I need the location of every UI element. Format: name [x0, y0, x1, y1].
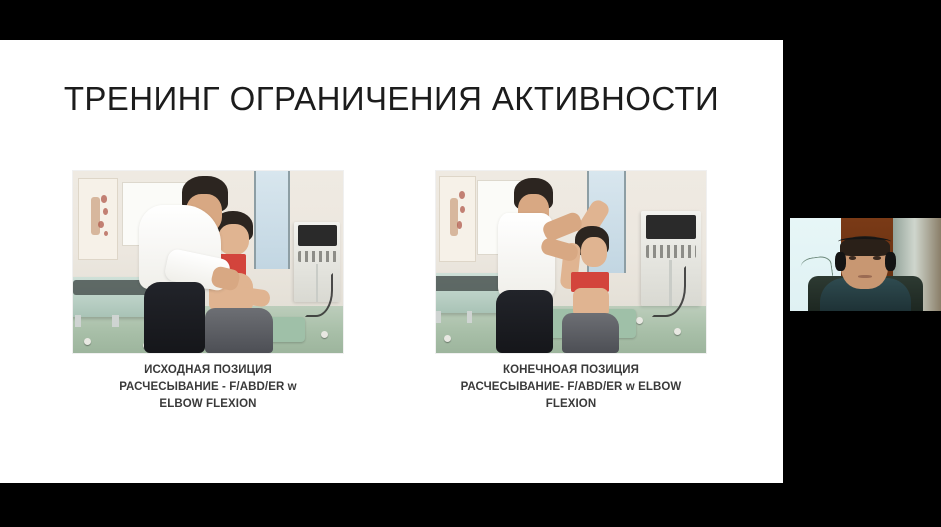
caption-starting-position: ИСХОДНАЯ ПОЗИЦИЯ РАСЧЕСЫВАНИЕ - F/ABD/ER… [73, 362, 343, 413]
clinic-room-scene [436, 171, 706, 353]
clinic-room-scene [73, 171, 343, 353]
caption-line: РАСЧЕСЫВАНИЕ - F/ABD/ER w [73, 379, 343, 396]
therapist-figure [132, 176, 245, 353]
caster-wheel [444, 335, 451, 342]
slide-panel-right: КОНЕЧНОАЯ ПОЗИЦИЯ РАСЧЕСЫВАНИЕ- F/ABD/ER… [436, 171, 706, 413]
slide-panel-left: ИСХОДНАЯ ПОЗИЦИЯ РАСЧЕСЫВАНИЕ - F/ABD/ER… [73, 171, 343, 413]
participant-video-tile[interactable] [783, 0, 941, 527]
caption-line: РАСЧЕСЫВАНИЕ- F/ABD/ER w ELBOW [436, 379, 706, 396]
headphones-icon [838, 237, 891, 246]
participant-video-feed[interactable] [790, 218, 941, 311]
photo-starting-position [73, 171, 343, 353]
caption-line: ELBOW FLEXION [73, 396, 343, 413]
meeting-screen: ТРЕНИНГ ОГРАНИЧЕНИЯ АКТИВНОСТИ [0, 0, 941, 527]
anatomy-poster-icon [78, 178, 118, 260]
photo-end-position [436, 171, 706, 353]
caption-line: КОНЕЧНОАЯ ПОЗИЦИЯ [436, 362, 706, 379]
anatomy-poster-icon [439, 176, 476, 262]
participant-eye-left [849, 256, 857, 260]
participant-mouth [858, 275, 872, 278]
caption-end-position: КОНЕЧНОАЯ ПОЗИЦИЯ РАСЧЕСЫВАНИЕ- F/ABD/ER… [436, 362, 706, 413]
therapist-figure [485, 178, 582, 353]
page-title: ТРЕНИНГ ОГРАНИЧЕНИЯ АКТИВНОСТИ [0, 80, 783, 118]
shared-slide: ТРЕНИНГ ОГРАНИЧЕНИЯ АКТИВНОСТИ [0, 40, 783, 483]
headphone-cup-right [885, 252, 896, 271]
caster-wheel [674, 328, 681, 335]
headphone-cup-left [835, 252, 846, 271]
caption-line: FLEXION [436, 396, 706, 413]
caption-line: ИСХОДНАЯ ПОЗИЦИЯ [73, 362, 343, 379]
participant-eye-right [873, 256, 881, 260]
